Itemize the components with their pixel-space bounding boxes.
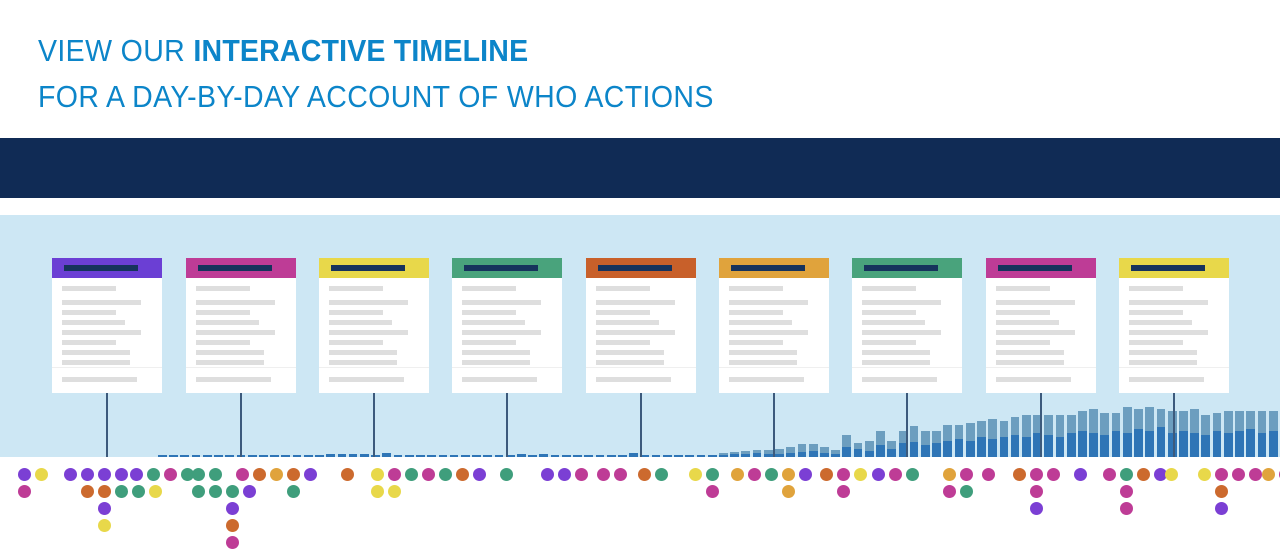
card-header: [452, 258, 562, 278]
card-header: [586, 258, 696, 278]
card-footer: [1119, 367, 1229, 393]
event-dot[interactable]: [1215, 468, 1228, 481]
event-dot[interactable]: [226, 519, 239, 532]
event-dot[interactable]: [149, 485, 162, 498]
card-connector-line: [240, 393, 242, 457]
card-text-line: [862, 300, 941, 305]
event-dot[interactable]: [854, 468, 867, 481]
event-dot[interactable]: [1137, 468, 1150, 481]
event-dot[interactable]: [706, 468, 719, 481]
event-dot[interactable]: [1047, 468, 1060, 481]
card-text-line: [996, 310, 1050, 315]
card-text-line: [596, 340, 650, 345]
card-text-line: [462, 330, 541, 335]
event-dot[interactable]: [799, 468, 812, 481]
card-connector-line: [506, 393, 508, 457]
card-body: [52, 278, 162, 365]
event-dot[interactable]: [287, 485, 300, 498]
event-dot[interactable]: [439, 468, 452, 481]
card-text-line: [196, 340, 250, 345]
event-dot[interactable]: [98, 468, 111, 481]
card-text-line: [462, 310, 516, 315]
card-text-line: [862, 350, 930, 355]
card-text-line: [729, 340, 783, 345]
event-dot[interactable]: [982, 468, 995, 481]
card-text-line: [996, 350, 1064, 355]
card-body: [452, 278, 562, 365]
card-text-line: [862, 360, 930, 365]
card-title-placeholder: [331, 265, 405, 271]
event-dot[interactable]: [388, 485, 401, 498]
event-dot[interactable]: [748, 468, 761, 481]
card-text-line: [62, 350, 130, 355]
event-dot[interactable]: [731, 468, 744, 481]
card-text-line: [996, 330, 1075, 335]
event-dot[interactable]: [130, 468, 143, 481]
card-footer: [986, 367, 1096, 393]
card-connector-line: [1040, 393, 1042, 457]
event-dot[interactable]: [18, 468, 31, 481]
event-dot[interactable]: [1232, 468, 1245, 481]
card-footer-placeholder: [862, 377, 937, 382]
event-dot[interactable]: [192, 468, 205, 481]
card-text-line: [329, 340, 383, 345]
event-dot[interactable]: [98, 519, 111, 532]
event-dot[interactable]: [1262, 468, 1275, 481]
event-dot[interactable]: [541, 468, 554, 481]
event-dot[interactable]: [943, 468, 956, 481]
card-text-line: [196, 330, 275, 335]
card-text-line: [329, 350, 397, 355]
card-body: [986, 278, 1096, 365]
card-text-line: [1129, 340, 1183, 345]
card-text-line: [462, 350, 530, 355]
card-text-line: [729, 286, 783, 291]
timeline-card[interactable]: [986, 258, 1096, 393]
card-text-line: [196, 300, 275, 305]
card-body: [719, 278, 829, 365]
card-text-line: [196, 360, 264, 365]
card-text-line: [729, 360, 797, 365]
card-text-line: [196, 350, 264, 355]
event-dot[interactable]: [98, 502, 111, 515]
card-header: [852, 258, 962, 278]
event-dot[interactable]: [872, 468, 885, 481]
event-dot[interactable]: [837, 468, 850, 481]
event-dot[interactable]: [226, 502, 239, 515]
card-body: [1119, 278, 1229, 365]
event-dot[interactable]: [236, 468, 249, 481]
card-text-line: [862, 320, 925, 325]
event-dot[interactable]: [500, 468, 513, 481]
event-dot[interactable]: [1103, 468, 1116, 481]
event-dot[interactable]: [1165, 468, 1178, 481]
card-connector-line: [640, 393, 642, 457]
card-footer: [452, 367, 562, 393]
card-text-line: [62, 286, 116, 291]
card-text-line: [596, 286, 650, 291]
event-dot[interactable]: [782, 485, 795, 498]
card-footer: [52, 367, 162, 393]
card-text-line: [596, 310, 650, 315]
card-text-line: [596, 330, 675, 335]
timeline-card[interactable]: [1119, 258, 1229, 393]
card-text-line: [62, 340, 116, 345]
timeline-card[interactable]: [452, 258, 562, 393]
event-dot[interactable]: [253, 468, 266, 481]
card-footer-placeholder: [462, 377, 537, 382]
event-dot[interactable]: [287, 468, 300, 481]
event-dot[interactable]: [889, 468, 902, 481]
card-body: [852, 278, 962, 365]
event-dot[interactable]: [35, 468, 48, 481]
card-text-line: [329, 300, 408, 305]
card-footer-placeholder: [196, 377, 271, 382]
card-text-line: [1129, 320, 1192, 325]
card-text-line: [862, 330, 941, 335]
card-footer-placeholder: [729, 377, 804, 382]
card-title-placeholder: [1131, 265, 1205, 271]
event-dot[interactable]: [226, 536, 239, 549]
card-footer-placeholder: [596, 377, 671, 382]
card-header: [1119, 258, 1229, 278]
timeline-card[interactable]: [186, 258, 296, 393]
card-text-line: [996, 320, 1059, 325]
card-text-line: [1129, 300, 1208, 305]
event-dot[interactable]: [575, 468, 588, 481]
card-text-line: [1129, 360, 1197, 365]
event-dot[interactable]: [906, 468, 919, 481]
card-body: [586, 278, 696, 365]
event-dot[interactable]: [209, 468, 222, 481]
card-footer-placeholder: [996, 377, 1071, 382]
event-dot[interactable]: [81, 485, 94, 498]
event-dot[interactable]: [1215, 502, 1228, 515]
event-dot[interactable]: [655, 468, 668, 481]
event-dot[interactable]: [209, 485, 222, 498]
card-header: [186, 258, 296, 278]
event-dot[interactable]: [473, 468, 486, 481]
card-text-line: [996, 286, 1050, 291]
card-text-line: [1129, 310, 1183, 315]
card-text-line: [596, 300, 675, 305]
event-dot[interactable]: [1215, 485, 1228, 498]
card-text-line: [996, 360, 1064, 365]
event-dot[interactable]: [943, 485, 956, 498]
event-dot[interactable]: [1013, 468, 1026, 481]
card-text-line: [62, 360, 130, 365]
card-text-line: [729, 350, 797, 355]
event-dot[interactable]: [341, 468, 354, 481]
timeline-card[interactable]: [719, 258, 829, 393]
timeline-card[interactable]: [319, 258, 429, 393]
event-dot[interactable]: [98, 485, 111, 498]
card-footer: [586, 367, 696, 393]
card-footer-placeholder: [1129, 377, 1204, 382]
card-text-line: [329, 330, 408, 335]
card-text-line: [729, 310, 783, 315]
card-text-line: [1129, 330, 1208, 335]
card-connector-line: [906, 393, 908, 457]
timeline-card[interactable]: [852, 258, 962, 393]
card-text-line: [596, 350, 664, 355]
timeline-card[interactable]: [52, 258, 162, 393]
card-text-line: [862, 286, 916, 291]
event-dot[interactable]: [115, 468, 128, 481]
event-dot[interactable]: [837, 485, 850, 498]
card-footer: [186, 367, 296, 393]
card-text-line: [462, 286, 516, 291]
card-header: [52, 258, 162, 278]
card-text-line: [862, 340, 916, 345]
event-dot[interactable]: [1249, 468, 1262, 481]
card-text-line: [729, 300, 808, 305]
card-text-line: [1129, 350, 1197, 355]
event-dot[interactable]: [81, 468, 94, 481]
card-text-line: [729, 330, 808, 335]
card-title-placeholder: [731, 265, 805, 271]
card-title-placeholder: [198, 265, 272, 271]
event-dot[interactable]: [638, 468, 651, 481]
card-connector-line: [1173, 393, 1175, 457]
event-dot[interactable]: [558, 468, 571, 481]
card-body: [186, 278, 296, 365]
event-dot[interactable]: [706, 485, 719, 498]
event-dot[interactable]: [1120, 485, 1133, 498]
event-dot[interactable]: [132, 485, 145, 498]
card-header: [986, 258, 1096, 278]
card-title-placeholder: [998, 265, 1072, 271]
event-dot[interactable]: [388, 468, 401, 481]
event-dot[interactable]: [614, 468, 627, 481]
card-text-line: [862, 310, 916, 315]
card-text-line: [596, 320, 659, 325]
event-dot[interactable]: [192, 485, 205, 498]
event-dot[interactable]: [304, 468, 317, 481]
card-text-line: [196, 286, 250, 291]
event-dot[interactable]: [1030, 502, 1043, 515]
card-text-line: [329, 310, 383, 315]
card-text-line: [329, 320, 392, 325]
card-text-line: [196, 320, 259, 325]
event-dot[interactable]: [1198, 468, 1211, 481]
event-dot[interactable]: [820, 468, 833, 481]
event-dot[interactable]: [371, 468, 384, 481]
card-text-line: [62, 320, 125, 325]
card-footer: [719, 367, 829, 393]
event-dot[interactable]: [1120, 468, 1133, 481]
card-text-line: [729, 320, 792, 325]
event-dot[interactable]: [597, 468, 610, 481]
card-header: [719, 258, 829, 278]
card-footer-placeholder: [329, 377, 404, 382]
card-text-line: [462, 320, 525, 325]
card-header: [319, 258, 429, 278]
event-dot[interactable]: [960, 468, 973, 481]
event-dot[interactable]: [147, 468, 160, 481]
event-dot[interactable]: [689, 468, 702, 481]
card-text-line: [462, 300, 541, 305]
event-dot[interactable]: [765, 468, 778, 481]
card-title-placeholder: [598, 265, 672, 271]
card-text-line: [62, 310, 116, 315]
event-dot[interactable]: [164, 468, 177, 481]
event-dot[interactable]: [456, 468, 469, 481]
event-dot[interactable]: [115, 485, 128, 498]
event-dot[interactable]: [371, 485, 384, 498]
card-text-line: [62, 330, 141, 335]
card-text-line: [329, 360, 397, 365]
card-connector-line: [773, 393, 775, 457]
card-footer-placeholder: [62, 377, 137, 382]
event-dot[interactable]: [422, 468, 435, 481]
card-connector-line: [106, 393, 108, 457]
card-connector-line: [373, 393, 375, 457]
event-dot[interactable]: [64, 468, 77, 481]
event-dot[interactable]: [1030, 468, 1043, 481]
card-title-placeholder: [464, 265, 538, 271]
card-text-line: [196, 310, 250, 315]
card-title-placeholder: [64, 265, 138, 271]
event-dot[interactable]: [960, 485, 973, 498]
event-dot[interactable]: [18, 485, 31, 498]
card-footer: [319, 367, 429, 393]
event-dot[interactable]: [1120, 502, 1133, 515]
event-dot[interactable]: [782, 468, 795, 481]
event-dot[interactable]: [1030, 485, 1043, 498]
card-text-line: [462, 360, 530, 365]
card-text-line: [996, 300, 1075, 305]
card-text-line: [996, 340, 1050, 345]
timeline-card[interactable]: [586, 258, 696, 393]
event-dot[interactable]: [1074, 468, 1087, 481]
card-text-line: [329, 286, 383, 291]
card-footer: [852, 367, 962, 393]
card-text-line: [596, 360, 664, 365]
card-title-placeholder: [864, 265, 938, 271]
event-dot-matrix: [0, 457, 1280, 551]
event-dot[interactable]: [270, 468, 283, 481]
card-text-line: [62, 300, 141, 305]
event-dot[interactable]: [226, 485, 239, 498]
card-text-line: [462, 340, 516, 345]
event-dot[interactable]: [405, 468, 418, 481]
card-body: [319, 278, 429, 365]
card-text-line: [1129, 286, 1183, 291]
event-dot[interactable]: [243, 485, 256, 498]
